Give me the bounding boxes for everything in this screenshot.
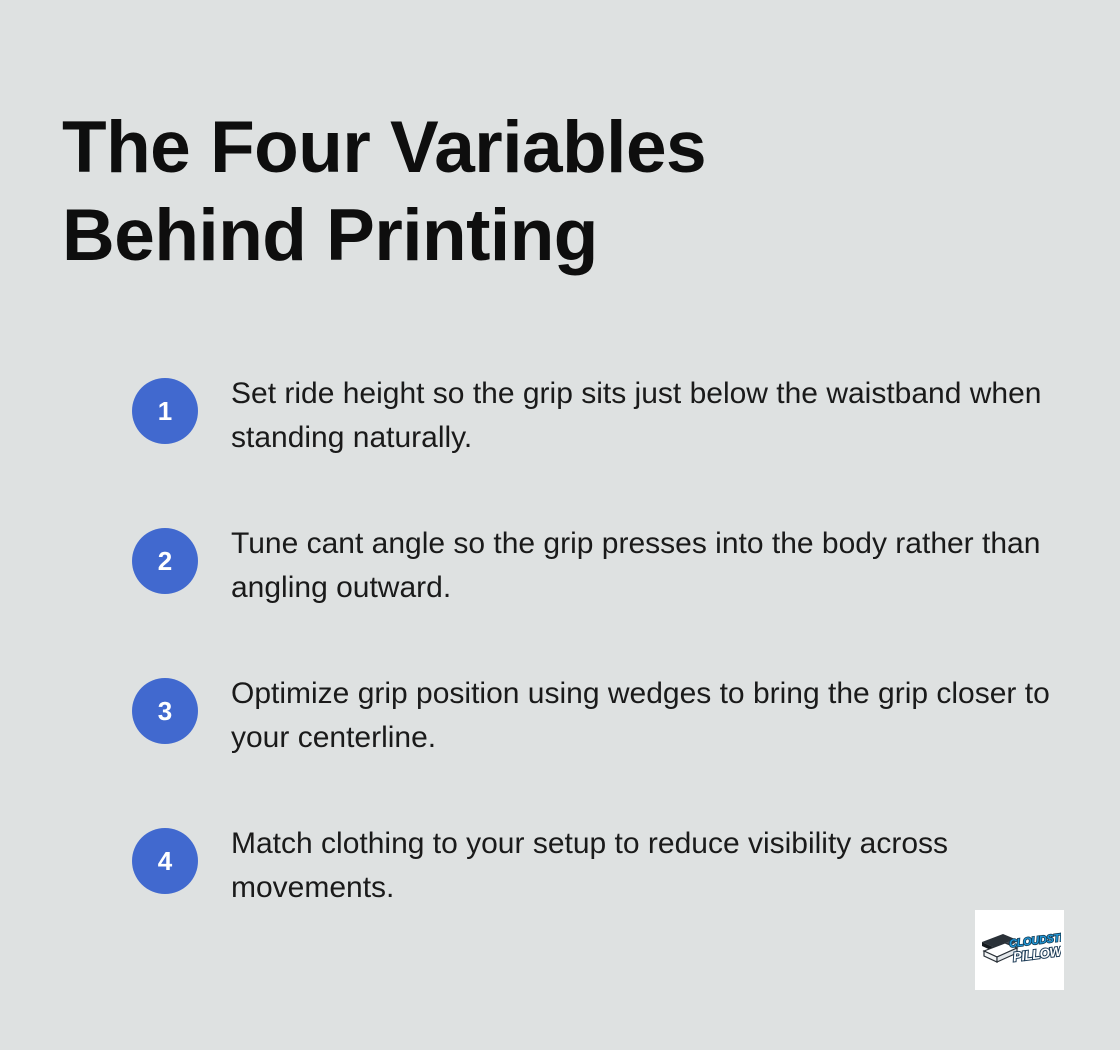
- step-number-badge-1: 1: [132, 378, 198, 444]
- infographic-canvas: The Four Variables Behind Printing 1 Set…: [0, 0, 1120, 1050]
- list-item: 4 Match clothing to your setup to reduce…: [132, 822, 1062, 910]
- steps-list: 1 Set ride height so the grip sits just …: [132, 372, 1062, 910]
- step-number-badge-2: 2: [132, 528, 198, 594]
- step-text-4: Match clothing to your setup to reduce v…: [231, 822, 1051, 910]
- step-number-badge-3: 3: [132, 678, 198, 744]
- list-item: 2 Tune cant angle so the grip presses in…: [132, 522, 1062, 610]
- brand-logo: CLOUDSTER PILLOW: [975, 910, 1064, 990]
- step-text-2: Tune cant angle so the grip presses into…: [231, 522, 1051, 610]
- list-item: 1 Set ride height so the grip sits just …: [132, 372, 1062, 460]
- title-block: The Four Variables Behind Printing: [62, 104, 942, 280]
- step-number-badge-4: 4: [132, 828, 198, 894]
- step-text-3: Optimize grip position using wedges to b…: [231, 672, 1051, 760]
- pillow-mattress-icon: CLOUDSTER PILLOW: [979, 930, 1061, 972]
- step-text-1: Set ride height so the grip sits just be…: [231, 372, 1051, 460]
- list-item: 3 Optimize grip position using wedges to…: [132, 672, 1062, 760]
- page-title: The Four Variables Behind Printing: [62, 104, 942, 280]
- logo-inner: CLOUDSTER PILLOW: [975, 910, 1064, 990]
